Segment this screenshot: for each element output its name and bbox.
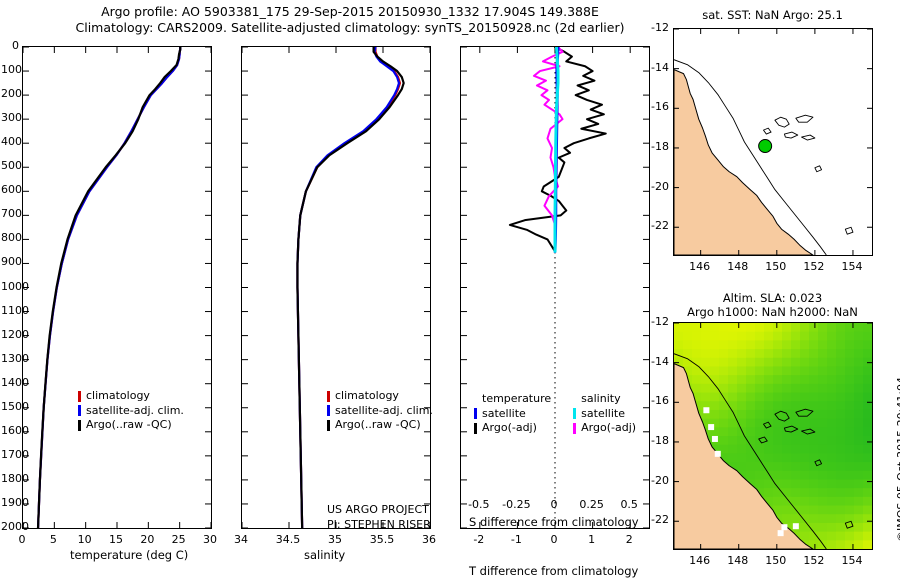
x-tick-152: 152 bbox=[800, 260, 828, 273]
y-tick--20: -20 bbox=[645, 474, 669, 487]
y-tick--16: -16 bbox=[645, 394, 669, 407]
sst-map-panel bbox=[673, 28, 873, 256]
y-tick-900: 900 bbox=[1, 255, 19, 268]
legend-swatch-icon bbox=[327, 420, 330, 431]
legend-swatch-icon bbox=[474, 423, 477, 434]
y-tick-800: 800 bbox=[1, 231, 19, 244]
legend-swatch-icon bbox=[474, 408, 477, 419]
x-tick-146: 146 bbox=[686, 554, 714, 567]
title-line-1: Argo profile: AO 5903381_175 29-Sep-2015… bbox=[40, 4, 660, 20]
legend-group-title: temperature bbox=[482, 392, 551, 407]
x-tick-146: 146 bbox=[686, 260, 714, 273]
difference-profile-plot bbox=[461, 47, 649, 528]
legend-label: Argo(..raw -QC) bbox=[86, 418, 172, 433]
difference-profile-panel bbox=[460, 46, 650, 529]
legend-group: temperaturesatelliteArgo(-adj) bbox=[474, 392, 551, 436]
reef-outline bbox=[796, 115, 813, 122]
y-tick--22: -22 bbox=[645, 513, 669, 526]
page-title: Argo profile: AO 5903381_175 29-Sep-2015… bbox=[40, 4, 660, 36]
x-tick-34.5: 34.5 bbox=[272, 533, 304, 546]
legend-label: climatology bbox=[335, 389, 399, 404]
x-tick-bottom--1: -1 bbox=[504, 533, 528, 546]
reef-outline bbox=[784, 132, 797, 138]
legend-label: Argo(-adj) bbox=[482, 421, 537, 436]
legend-item: Argo(..raw -QC) bbox=[327, 418, 433, 433]
x-tick-30: 30 bbox=[201, 533, 219, 546]
legend-swatch-icon bbox=[78, 420, 81, 431]
y-tick-100: 100 bbox=[1, 63, 19, 76]
sst-map-plot bbox=[674, 29, 872, 255]
legend-group-title: salinity bbox=[581, 392, 636, 407]
temperature-profile-plot bbox=[23, 47, 211, 528]
legend-swatch-icon bbox=[78, 391, 81, 402]
x-tick-20: 20 bbox=[138, 533, 156, 546]
y-tick--12: -12 bbox=[645, 21, 669, 34]
project-line-2: PI: STEPHEN RISER bbox=[327, 518, 431, 533]
x-tick-148: 148 bbox=[724, 260, 752, 273]
x-tick-152: 152 bbox=[800, 554, 828, 567]
legend-label: satellite bbox=[581, 407, 625, 422]
legend-swatch-icon bbox=[573, 408, 576, 419]
y-tick-1100: 1100 bbox=[1, 304, 19, 317]
y-tick--22: -22 bbox=[645, 219, 669, 232]
y-tick-200: 200 bbox=[1, 87, 19, 100]
x-tick-bottom-1: 1 bbox=[580, 533, 604, 546]
argo-float-marker[interactable] bbox=[759, 140, 772, 153]
reef-outline bbox=[802, 135, 815, 140]
x-tick-34: 34 bbox=[225, 533, 257, 546]
sla-map-plot bbox=[674, 323, 872, 549]
y-tick--18: -18 bbox=[645, 434, 669, 447]
y-tick-2000: 2000 bbox=[1, 520, 19, 533]
y-tick-1300: 1300 bbox=[1, 352, 19, 365]
x-tick-150: 150 bbox=[762, 554, 790, 567]
y-tick-500: 500 bbox=[1, 159, 19, 172]
y-tick-700: 700 bbox=[1, 207, 19, 220]
legend-label: Argo(..raw -QC) bbox=[335, 418, 421, 433]
title-line-2: Climatology: CARS2009. Satellite-adjuste… bbox=[40, 20, 660, 36]
y-tick-600: 600 bbox=[1, 183, 19, 196]
x-tick-top--0.25: -0.25 bbox=[498, 498, 534, 511]
y-tick-1400: 1400 bbox=[1, 376, 19, 389]
reef-outline bbox=[845, 227, 853, 234]
x-tick-0: 0 bbox=[13, 533, 31, 546]
x-tick-154: 154 bbox=[838, 554, 866, 567]
x-tick-top-0.25: 0.25 bbox=[574, 498, 610, 511]
x-tick-148: 148 bbox=[724, 554, 752, 567]
y-tick-300: 300 bbox=[1, 111, 19, 124]
sla-map-title-line-2: Argo h1000: NaN h2000: NaN bbox=[665, 305, 880, 319]
y-tick--18: -18 bbox=[645, 140, 669, 153]
legend-label: satellite-adj. clim. bbox=[86, 404, 184, 419]
difference-t-axis-label: T difference from climatology bbox=[469, 564, 638, 578]
missing-data-cell bbox=[703, 407, 709, 413]
missing-data-cell bbox=[781, 524, 787, 530]
y-tick-1600: 1600 bbox=[1, 424, 19, 437]
legend-item: Argo(-adj) bbox=[474, 421, 551, 436]
missing-data-cell bbox=[778, 530, 784, 536]
project-line-1: US ARGO PROJECT bbox=[327, 503, 431, 518]
salinity-profile-panel bbox=[241, 46, 431, 529]
legend-item: climatology bbox=[78, 389, 184, 404]
salinity-profile-plot bbox=[242, 47, 430, 528]
x-tick-150: 150 bbox=[762, 260, 790, 273]
legend-swatch-icon bbox=[78, 405, 81, 416]
y-tick-1200: 1200 bbox=[1, 328, 19, 341]
y-tick--20: -20 bbox=[645, 180, 669, 193]
legend-item: satellite-adj. clim. bbox=[78, 404, 184, 419]
x-tick-top--0.5: -0.5 bbox=[461, 498, 497, 511]
temperature-profile-panel bbox=[22, 46, 212, 529]
legend-label: climatology bbox=[86, 389, 150, 404]
x-tick-35.5: 35.5 bbox=[366, 533, 398, 546]
x-tick-36: 36 bbox=[413, 533, 445, 546]
x-tick-25: 25 bbox=[170, 533, 188, 546]
y-tick--14: -14 bbox=[645, 61, 669, 74]
x-tick-15: 15 bbox=[107, 533, 125, 546]
project-credit: US ARGO PROJECT PI: STEPHEN RISER bbox=[327, 503, 431, 532]
temperature-legend: climatologysatellite-adj. clim.Argo(..ra… bbox=[78, 389, 184, 433]
y-tick-0: 0 bbox=[1, 39, 19, 52]
sst-map-title: sat. SST: NaN Argo: 25.1 bbox=[665, 8, 880, 22]
y-tick-1900: 1900 bbox=[1, 496, 19, 509]
legend-label: satellite bbox=[482, 407, 526, 422]
x-tick-5: 5 bbox=[44, 533, 62, 546]
difference-s-axis-label: S difference from climatology bbox=[469, 515, 639, 529]
legend-swatch-icon bbox=[327, 391, 330, 402]
legend-group: salinitysatelliteArgo(-adj) bbox=[573, 392, 636, 436]
y-tick-1800: 1800 bbox=[1, 472, 19, 485]
sla-map-title-line-1: Altim. SLA: 0.023 bbox=[665, 291, 880, 305]
y-tick-400: 400 bbox=[1, 135, 19, 148]
legend-label: Argo(-adj) bbox=[581, 421, 636, 436]
salinity-legend: climatologysatellite-adj. clim.Argo(..ra… bbox=[327, 389, 433, 433]
legend-label: satellite-adj. clim. bbox=[335, 404, 433, 419]
x-tick-10: 10 bbox=[76, 533, 94, 546]
legend-item: satellite bbox=[474, 407, 551, 422]
landmass bbox=[674, 70, 813, 255]
x-tick-35: 35 bbox=[319, 533, 351, 546]
y-tick-1700: 1700 bbox=[1, 448, 19, 461]
missing-data-cell bbox=[712, 436, 718, 442]
x-tick-154: 154 bbox=[838, 260, 866, 273]
missing-data-cell bbox=[715, 451, 721, 457]
x-tick-bottom-0: 0 bbox=[542, 533, 566, 546]
x-tick-top-0.5: 0.5 bbox=[611, 498, 647, 511]
legend-swatch-icon bbox=[327, 405, 330, 416]
legend-item: satellite bbox=[573, 407, 636, 422]
legend-item: satellite-adj. clim. bbox=[327, 404, 433, 419]
reef-outline bbox=[775, 117, 789, 127]
reef-outline bbox=[815, 166, 822, 172]
difference-legend: temperaturesatelliteArgo(-adj)salinitysa… bbox=[474, 392, 636, 436]
y-tick--16: -16 bbox=[645, 100, 669, 113]
legend-item: Argo(..raw -QC) bbox=[78, 418, 184, 433]
temperature-x-axis-label: temperature (deg C) bbox=[70, 548, 188, 562]
legend-item: climatology bbox=[327, 389, 433, 404]
imos-credit: ©IMOS 05-Oct-2015 20:41:04 bbox=[895, 377, 900, 542]
x-tick-top-0: 0 bbox=[536, 498, 572, 511]
salinity-x-axis-label: salinity bbox=[304, 548, 345, 562]
y-tick--12: -12 bbox=[645, 315, 669, 328]
sla-map-panel bbox=[673, 322, 873, 550]
legend-item: Argo(-adj) bbox=[573, 421, 636, 436]
x-tick-bottom--2: -2 bbox=[467, 533, 491, 546]
reef-outline bbox=[763, 128, 771, 134]
y-tick-1000: 1000 bbox=[1, 280, 19, 293]
y-tick-1500: 1500 bbox=[1, 400, 19, 413]
y-tick--14: -14 bbox=[645, 355, 669, 368]
legend-swatch-icon bbox=[573, 423, 576, 434]
missing-data-cell bbox=[708, 424, 714, 430]
missing-data-cell bbox=[793, 523, 799, 529]
sla-map-title: Altim. SLA: 0.023 Argo h1000: NaN h2000:… bbox=[665, 291, 880, 319]
x-tick-bottom-2: 2 bbox=[617, 533, 641, 546]
